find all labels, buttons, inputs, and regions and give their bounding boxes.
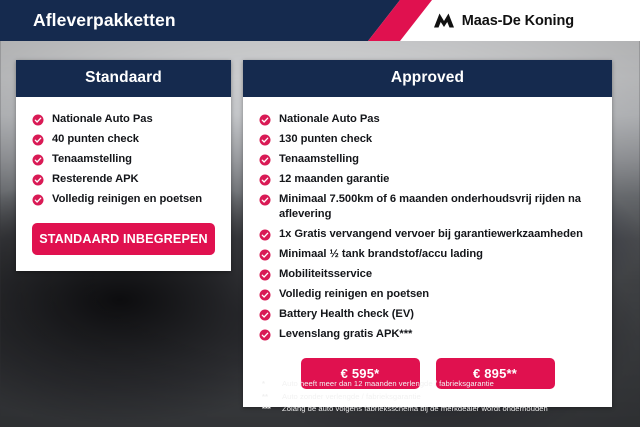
list-item: Minimaal 7.500km of 6 maanden onderhouds… <box>243 189 612 224</box>
check-circle-icon <box>32 174 44 186</box>
list-item-label: 12 maanden garantie <box>279 172 389 187</box>
footnote-marker: * <box>262 379 282 389</box>
slide-root: Afleverpakketten Maas-De Koning Standaar… <box>0 0 640 427</box>
list-item-label: Nationale Auto Pas <box>279 112 380 127</box>
list-item: Minimaal ½ tank brandstof/accu lading <box>243 244 612 264</box>
footnote-text: Auto zonder verlengde / fabrieksgarantie <box>282 392 421 402</box>
card-standaard-body: Nationale Auto Pas 40 punten check Tenaa… <box>16 97 231 271</box>
list-item-label: Volledig reinigen en poetsen <box>279 287 429 302</box>
card-approved-title: Approved <box>243 60 612 97</box>
check-circle-icon <box>259 174 271 186</box>
list-item-label: Volledig reinigen en poetsen <box>52 192 202 207</box>
list-item-label: Nationale Auto Pas <box>52 112 153 127</box>
check-circle-icon <box>32 114 44 126</box>
list-item-label: Levenslang gratis APK*** <box>279 327 412 342</box>
list-item-label: Minimaal ½ tank brandstof/accu lading <box>279 247 483 262</box>
check-circle-icon <box>259 154 271 166</box>
check-circle-icon <box>259 229 271 241</box>
check-circle-icon <box>32 134 44 146</box>
card-approved-body: Nationale Auto Pas 130 punten check Tena… <box>243 97 612 407</box>
list-item-label: 1x Gratis vervangend vervoer bij garanti… <box>279 227 583 242</box>
check-circle-icon <box>259 194 271 206</box>
check-circle-icon <box>259 134 271 146</box>
check-circle-icon <box>259 289 271 301</box>
check-circle-icon <box>259 249 271 261</box>
list-item-label: Tenaamstelling <box>279 152 359 167</box>
card-approved: Approved Nationale Auto Pas 130 punten c… <box>243 60 612 407</box>
list-item: Nationale Auto Pas <box>16 109 231 129</box>
standaard-feature-list: Nationale Auto Pas 40 punten check Tenaa… <box>16 109 231 209</box>
footnote-text: Auto heeft meer dan 12 maanden verlengde… <box>282 379 494 389</box>
list-item: 1x Gratis vervangend vervoer bij garanti… <box>243 224 612 244</box>
footnote-row: * Auto heeft meer dan 12 maanden verleng… <box>262 379 622 389</box>
footnote-marker: *** <box>262 404 282 414</box>
list-item-label: Resterende APK <box>52 172 139 187</box>
list-item: 130 punten check <box>243 129 612 149</box>
list-item-label: 40 punten check <box>52 132 139 147</box>
brand-lockup: Maas-De Koning <box>433 0 574 41</box>
page-header: Afleverpakketten Maas-De Koning <box>0 0 640 41</box>
list-item: Resterende APK <box>16 169 231 189</box>
card-standaard-title: Standaard <box>16 60 231 97</box>
check-circle-icon <box>259 309 271 321</box>
list-item-label: Battery Health check (EV) <box>279 307 414 322</box>
check-circle-icon <box>259 114 271 126</box>
check-circle-icon <box>32 154 44 166</box>
footnote-marker: ** <box>262 392 282 402</box>
check-circle-icon <box>32 194 44 206</box>
list-item: Tenaamstelling <box>16 149 231 169</box>
list-item-label: Mobiliteitsservice <box>279 267 372 282</box>
approved-feature-list: Nationale Auto Pas 130 punten check Tena… <box>243 109 612 344</box>
footnote-row: *** Zolang de auto volgens fabrieksschem… <box>262 404 622 414</box>
list-item-label: 130 punten check <box>279 132 372 147</box>
list-item: Tenaamstelling <box>243 149 612 169</box>
page-title: Afleverpakketten <box>33 0 176 41</box>
list-item: Mobiliteitsservice <box>243 264 612 284</box>
card-standaard: Standaard Nationale Auto Pas 40 punten c… <box>16 60 231 271</box>
maas-de-koning-m-logo-icon <box>433 12 455 29</box>
standaard-inbegrepen-button[interactable]: STANDAARD INBEGREPEN <box>32 223 215 255</box>
list-item: Volledig reinigen en poetsen <box>243 284 612 304</box>
list-item: Volledig reinigen en poetsen <box>16 189 231 209</box>
check-circle-icon <box>259 269 271 281</box>
footnote-row: ** Auto zonder verlengde / fabrieksgaran… <box>262 392 622 402</box>
footnote-text: Zolang de auto volgens fabrieksschema bi… <box>282 404 548 414</box>
list-item-label: Tenaamstelling <box>52 152 132 167</box>
footnote-block: * Auto heeft meer dan 12 maanden verleng… <box>262 379 622 417</box>
list-item: 12 maanden garantie <box>243 169 612 189</box>
check-circle-icon <box>259 329 271 341</box>
list-item-label: Minimaal 7.500km of 6 maanden onderhouds… <box>279 192 600 222</box>
list-item: Nationale Auto Pas <box>243 109 612 129</box>
brand-name: Maas-De Koning <box>462 13 574 29</box>
list-item: 40 punten check <box>16 129 231 149</box>
list-item: Battery Health check (EV) <box>243 304 612 324</box>
list-item: Levenslang gratis APK*** <box>243 324 612 344</box>
